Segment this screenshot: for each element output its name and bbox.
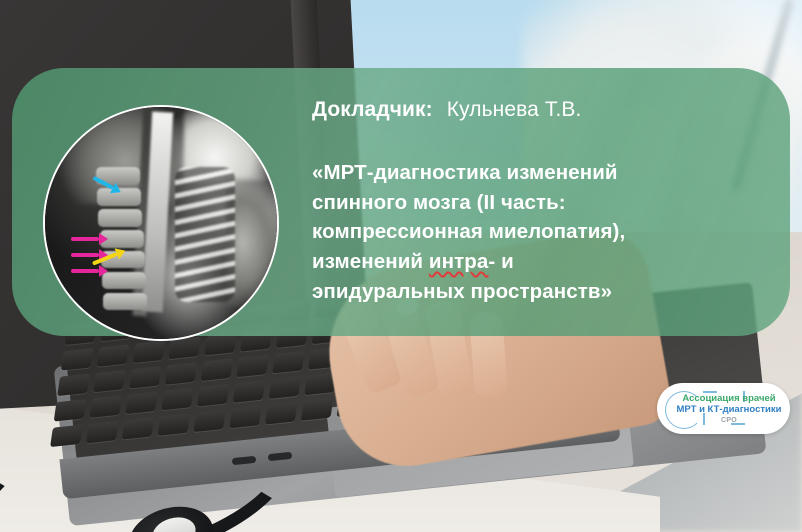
keyboard-key [165,362,198,385]
logo-line-2: МРТ и КТ-диагностики [669,405,789,416]
speaker-name: Кульнева Т.В. [447,98,582,121]
speaker-line: Докладчик:Кульнева Т.В. [312,98,581,122]
vertebral-body [98,209,142,227]
keyboard-key [233,380,266,403]
keyboard-key [90,395,123,418]
title-line-4: изменений интра- и [312,247,722,277]
keyboard-key [132,340,165,363]
keyboard-key [269,376,302,399]
spellcheck-word: интра [429,250,488,273]
keyboard-key [93,370,126,393]
logo-line-3: СРО [669,416,789,425]
presentation-title: «МРТ-диагностика изменений спинного мозг… [312,158,722,307]
keyboard-key [54,399,87,422]
keyboard-key [61,348,94,371]
vertebral-body [102,272,146,290]
keyboard-key [301,398,334,421]
title-line-5: эпидуральных пространств» [312,277,722,307]
title-line-4-pre: изменений [312,250,429,273]
mri-posterior-elements [175,167,235,302]
keyboard-key [57,374,90,397]
keyboard-key [129,366,162,389]
title-line-4-post: - и [488,250,513,273]
keyboard-key [272,351,305,374]
keyboard-key [265,402,298,425]
speaker-label: Докладчик: [312,98,433,121]
association-logo: Ассоциация врачей МРТ и КТ-диагностики С… [657,383,790,434]
presentation-slide: Докладчик:Кульнева Т.В. «МРТ-диагностика… [0,0,802,532]
keyboard-key [200,358,233,381]
vertebral-body [103,293,147,311]
mri-image-circle [43,105,279,341]
keyboard-key [97,344,130,367]
title-line-1: «МРТ-диагностика изменений [312,158,722,188]
title-line-2: спинного мозга (II часть: [312,188,722,218]
mri-scan [45,107,277,339]
keyboard-key [236,355,269,378]
title-line-3: компрессионная миелопатия), [312,217,722,247]
keyboard-key [197,384,230,407]
logo-text: Ассоциация врачей МРТ и КТ-диагностики С… [669,394,789,425]
